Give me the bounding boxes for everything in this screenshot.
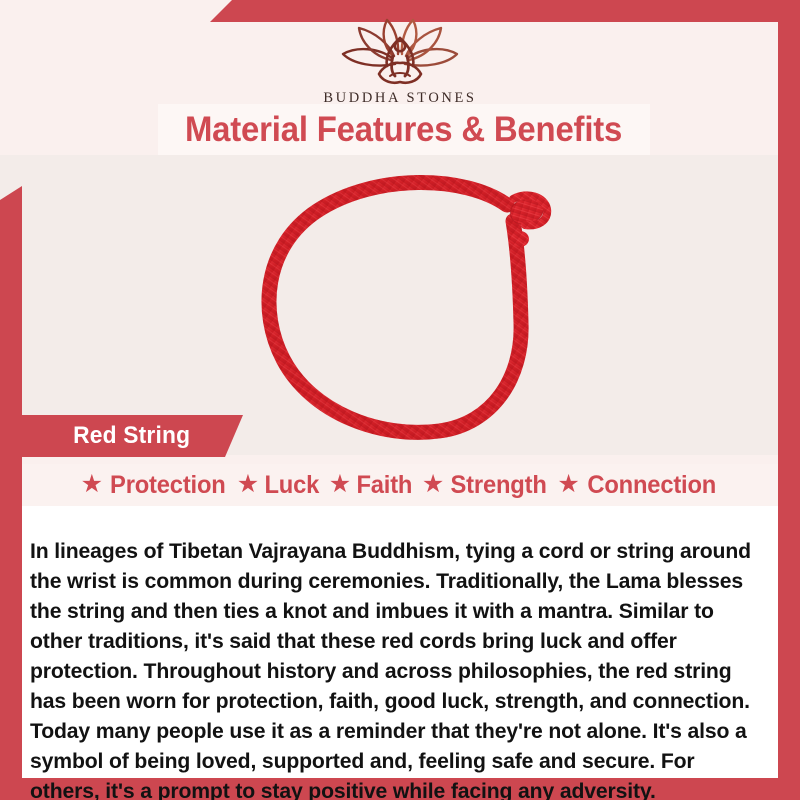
frame-left-bar [0,186,22,800]
description-panel: In lineages of Tibetan Vajrayana Buddhis… [22,506,778,778]
feature-item-protection: ★ Protection [78,471,232,500]
star-icon: ★ [422,472,444,497]
feature-badge-row: ★ Protection ★ Luck ★ Faith ★ Strength ★… [22,464,778,506]
product-name-label: Red String [73,422,190,450]
description-text: In lineages of Tibetan Vajrayana Buddhis… [30,536,757,800]
star-icon: ★ [557,472,579,497]
lotus-meditation-icon [335,16,465,88]
product-name-ribbon: Red String [0,415,243,457]
feature-item-strength: ★ Strength [419,471,553,500]
star-icon: ★ [81,472,103,497]
feature-label: Faith [357,471,413,500]
red-string-bracelet-image [255,163,565,453]
feature-item-faith: ★ Faith [326,471,417,500]
page-title: Material Features & Benefits [185,110,622,150]
title-band: Material Features & Benefits [158,104,650,155]
star-icon: ★ [237,472,259,497]
feature-label: Strength [451,471,547,500]
feature-item-luck: ★ Luck [234,471,324,500]
brand-logo-block: BUDDHA STONES [0,16,800,107]
feature-label: Connection [587,471,716,500]
frame-right-bar [778,0,800,800]
product-photo-stage [0,155,800,455]
poster-canvas: BUDDHA STONES Material Features & Benefi… [0,0,800,800]
feature-label: Luck [265,471,320,500]
feature-item-connection: ★ Connection [554,471,722,500]
feature-label: Protection [110,471,226,500]
star-icon: ★ [329,472,351,497]
